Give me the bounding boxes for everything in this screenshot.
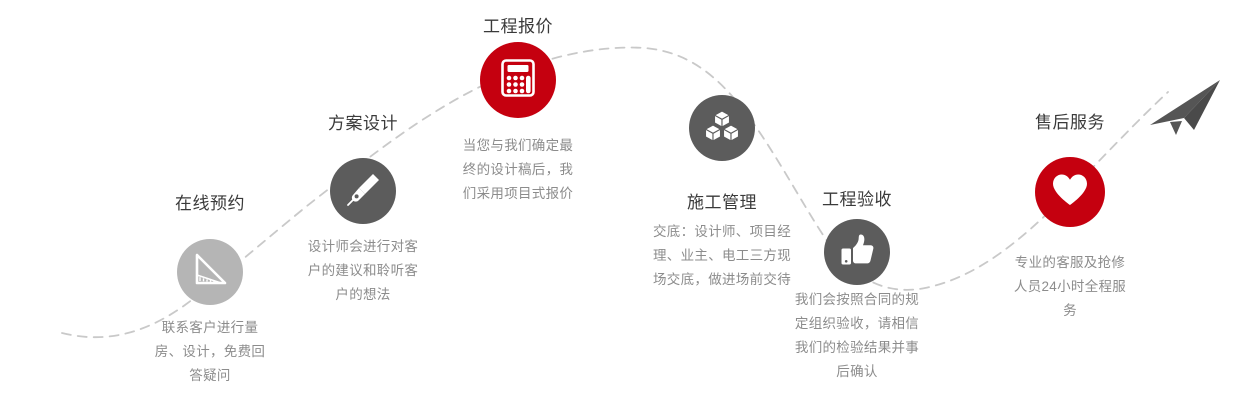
heart-icon — [1050, 171, 1090, 214]
pen-nib-icon — [343, 169, 383, 214]
calculator-icon — [497, 57, 539, 104]
step-6-description: 专业的客服及抢修 人员24小时全程服 务 — [975, 251, 1165, 323]
step-2-description: 设计师会进行对客 户的建议和聆听客 户的想法 — [273, 235, 453, 307]
step-1-icon-circle[interactable] — [177, 239, 243, 305]
desc-line: 当您与我们确定最 — [423, 134, 613, 158]
desc-line: 理、业主、电工三方现 — [607, 244, 837, 268]
step-5-icon-circle[interactable] — [824, 219, 890, 285]
triangle-ruler-icon — [190, 250, 230, 295]
step-5-title: 工程验收 — [822, 191, 892, 208]
desc-line: 交底：设计师、项目经 — [607, 220, 837, 244]
desc-line: 答疑问 — [125, 364, 295, 388]
step-2-icon-circle[interactable] — [330, 158, 396, 224]
desc-line: 设计师会进行对客 — [273, 235, 453, 259]
step-6-icon-circle[interactable] — [1035, 157, 1105, 227]
step-3-description: 当您与我们确定最 终的设计稿后，我 们采用项目式报价 — [423, 134, 613, 206]
desc-line: 联系客户进行量 — [125, 316, 295, 340]
desc-line: 专业的客服及抢修 — [975, 251, 1165, 275]
process-flow-diagram: 在线预约 联系客户进行量 房、设计，免 — [0, 0, 1245, 402]
desc-line: 我们会按照合同的规 — [752, 288, 962, 312]
step-1-description: 联系客户进行量 房、设计，免费回 答疑问 — [125, 316, 295, 388]
step-4-description: 交底：设计师、项目经 理、业主、电工三方现 场交底，做进场前交待 — [607, 192, 837, 292]
desc-line: 户的建议和聆听客 — [273, 259, 453, 283]
desc-line: 房、设计，免费回 — [125, 340, 295, 364]
desc-line: 终的设计稿后，我 — [423, 158, 613, 182]
step-1-title: 在线预约 — [175, 195, 245, 212]
step-3-title: 工程报价 — [483, 18, 553, 35]
desc-line: 人员24小时全程服 — [975, 275, 1165, 299]
paper-plane-icon — [1148, 78, 1226, 138]
cubes-icon — [702, 106, 742, 151]
desc-line: 务 — [975, 299, 1165, 323]
desc-line: 定组织验收，请相信 — [752, 312, 962, 336]
desc-line: 户的想法 — [273, 283, 453, 307]
step-5-description: 我们会按照合同的规 定组织验收，请相信 我们的检验结果并事 后确认 — [752, 288, 962, 384]
step-4-icon-circle[interactable] — [689, 95, 755, 161]
desc-line: 们采用项目式报价 — [423, 182, 613, 206]
step-3-icon-circle[interactable] — [480, 42, 556, 118]
step-2-title: 方案设计 — [328, 115, 398, 132]
desc-line: 后确认 — [752, 360, 962, 384]
step-6-title: 售后服务 — [1035, 114, 1105, 131]
thumbs-up-icon — [837, 230, 877, 275]
desc-line: 我们的检验结果并事 — [752, 336, 962, 360]
